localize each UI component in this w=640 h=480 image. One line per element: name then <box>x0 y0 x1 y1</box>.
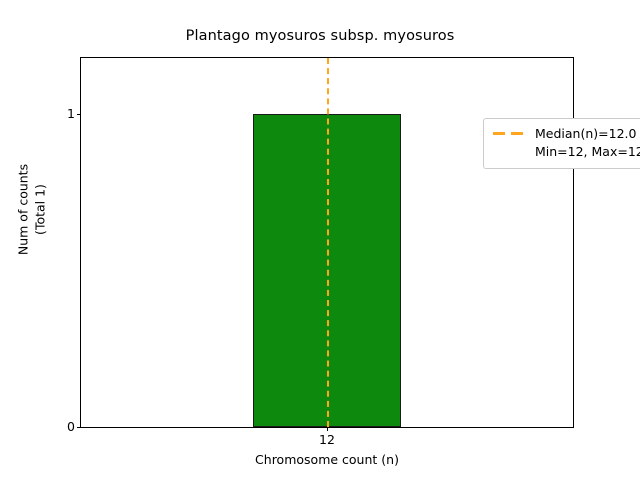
chart-figure: Plantago myosuros subsp. myosuros 01 12 … <box>0 0 640 480</box>
dashed-line-marker <box>492 127 526 140</box>
x-tick-mark <box>327 427 328 431</box>
y-axis-label: Num of counts (Total 1) <box>16 70 49 350</box>
median-line <box>327 58 329 427</box>
x-tick-label: 12 <box>319 434 335 447</box>
x-axis-label: Chromosome count (n) <box>80 452 574 467</box>
plot-area: 01 12 Median(n)=12.0 Min=12, Max=12 <box>80 57 574 428</box>
page-title: Plantago myosuros subsp. myosuros <box>0 28 640 44</box>
chart-legend[interactable]: Median(n)=12.0 Min=12, Max=12 <box>483 118 640 169</box>
y-tick-mark <box>77 427 81 428</box>
legend-label: Median(n)=12.0 Min=12, Max=12 <box>535 125 640 161</box>
y-tick-label: 0 <box>67 421 75 434</box>
y-tick-mark <box>77 114 81 115</box>
y-tick-label: 1 <box>67 108 75 121</box>
